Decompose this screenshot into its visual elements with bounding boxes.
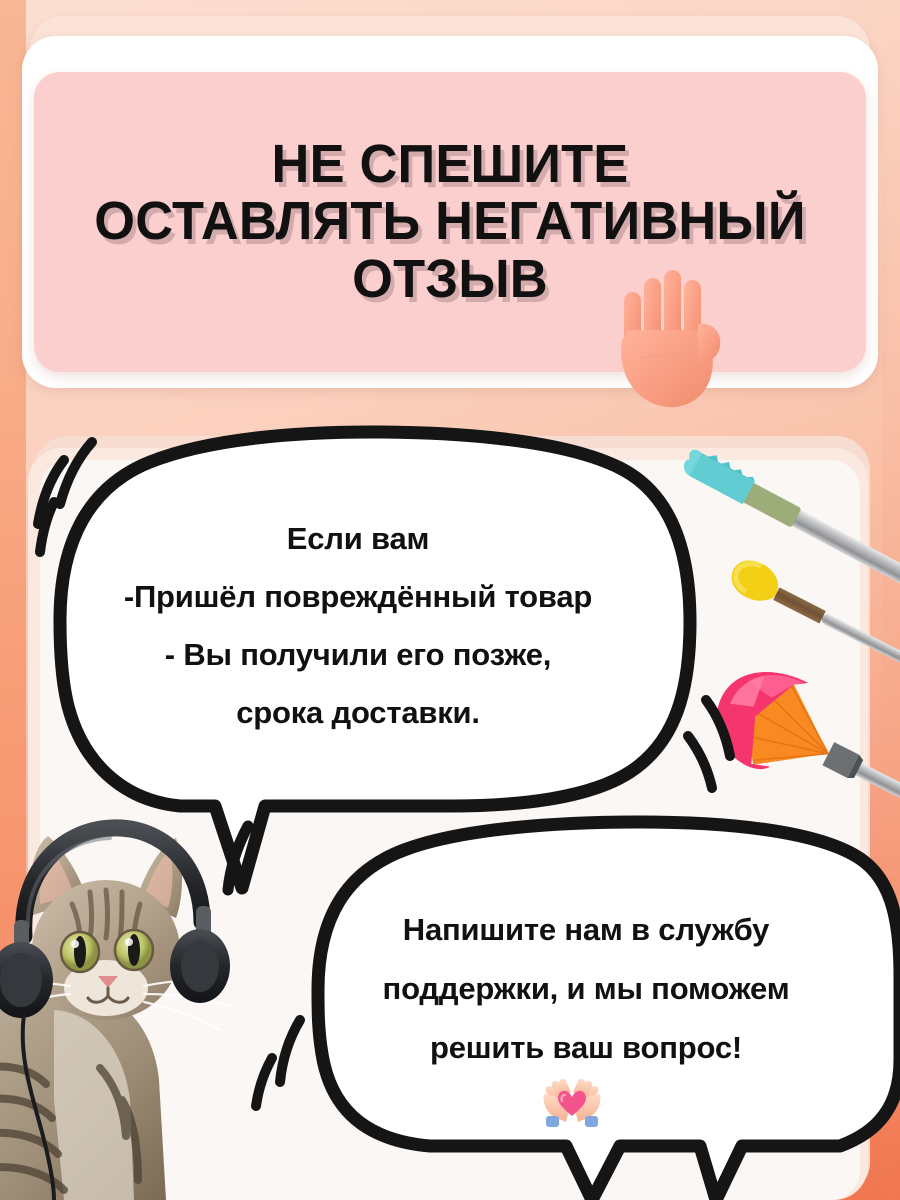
bubble-one-line-1: Если вам: [58, 510, 658, 568]
headline-line-3: ОТЗЫВ: [46, 251, 853, 308]
bubble-one-line-4: срока доставки.: [58, 684, 658, 742]
bubble-one-text: Если вам -Пришёл повреждённый товар - Вы…: [58, 510, 658, 742]
bubble-two-line-3: решить ваш вопрос!: [312, 1018, 860, 1077]
heart-hands-icon: [540, 1076, 604, 1135]
poster-canvas: НЕ СПЕШИТЕ ОСТАВЛЯТЬ НЕГАТИВНЫЙ ОТЗЫВ: [0, 0, 900, 1200]
header-card-pink: НЕ СПЕШИТЕ ОСТАВЛЯТЬ НЕГАТИВНЫЙ ОТЗЫВ: [34, 72, 866, 372]
bubble-two-text: Напишите нам в службу поддержки, и мы по…: [312, 900, 860, 1077]
headline-line-2: ОСТАВЛЯТЬ НЕГАТИВНЫЙ: [46, 193, 853, 250]
raised-hand-icon: [612, 262, 730, 430]
header-card-stack: НЕ СПЕШИТЕ ОСТАВЛЯТЬ НЕГАТИВНЫЙ ОТЗЫВ: [0, 0, 900, 470]
bubble-two-line-2: поддержки, и мы поможем: [312, 959, 860, 1018]
headline-line-1: НЕ СПЕШИТЕ: [46, 136, 853, 193]
page-title: НЕ СПЕШИТЕ ОСТАВЛЯТЬ НЕГАТИВНЫЙ ОТЗЫВ: [46, 136, 853, 308]
bubble-two-line-1: Напишите нам в службу: [312, 900, 860, 959]
cat-with-headphones-image: [0, 800, 244, 1200]
bubble-one-line-2: -Пришёл повреждённый товар: [58, 568, 658, 626]
bubble-one-line-3: - Вы получили его позже,: [58, 626, 658, 684]
